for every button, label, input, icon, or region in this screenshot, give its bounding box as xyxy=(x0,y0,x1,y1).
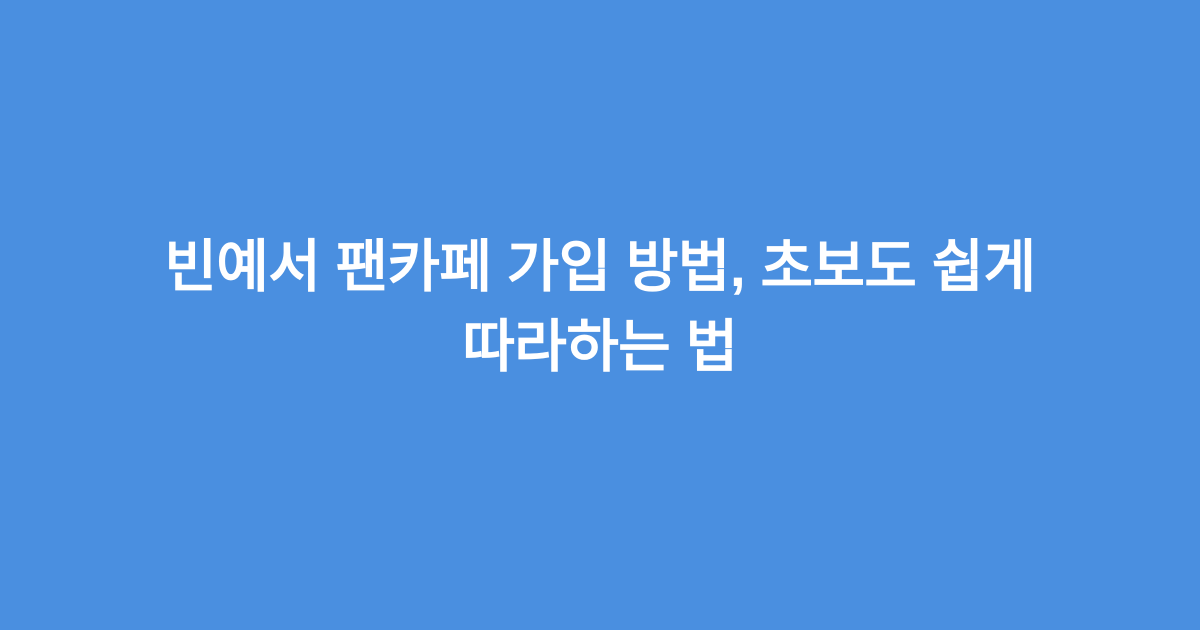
page-title: 빈예서 팬카페 가입 방법, 초보도 쉽게 따라하는 법 xyxy=(72,227,1128,387)
title-block: 빈예서 팬카페 가입 방법, 초보도 쉽게 따라하는 법 xyxy=(72,227,1128,387)
og-card-canvas: 빈예서 팬카페 가입 방법, 초보도 쉽게 따라하는 법 xyxy=(0,0,1200,630)
